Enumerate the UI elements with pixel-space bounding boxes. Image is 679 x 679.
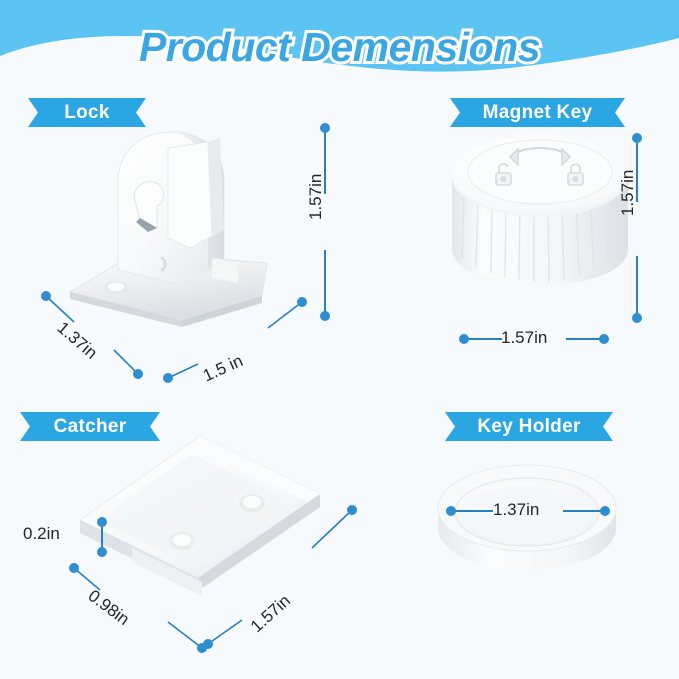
- page-title: Product Demensions: [0, 24, 679, 71]
- dimension-label-catcher-thickness: 0.2in: [23, 524, 60, 544]
- dimension-line-lock-depth: [38, 288, 148, 384]
- section-key-holder: Key Holder: [360, 400, 679, 679]
- header-banner: Product Demensions: [0, 0, 679, 96]
- dimension-line-catcher-width: [66, 560, 212, 656]
- key-holder-dish-icon: [432, 462, 622, 582]
- ribbon-key-holder: Key Holder: [445, 412, 613, 441]
- magnet-key-icon: [440, 127, 640, 312]
- dimension-line-catcher-thickness: [95, 517, 109, 557]
- dimension-label-holder-diameter: 1.37in: [493, 500, 539, 520]
- dimension-label-key-diameter: 1.57in: [501, 328, 547, 348]
- dimension-label-key-height: 1.57in: [618, 170, 638, 216]
- dimension-line-lock-height: [318, 122, 332, 322]
- dimension-label-lock-height: 1.57in: [306, 174, 326, 220]
- ribbon-key-holder-label: Key Holder: [461, 416, 596, 438]
- dimension-line-catcher-length: [200, 500, 360, 652]
- ribbon-magnet-key-label: Magnet Key: [467, 102, 609, 124]
- product-dimensions-infographic: Product Demensions Lock: [0, 0, 679, 679]
- section-lock: Lock: [0, 92, 340, 392]
- ribbon-magnet-key: Magnet Key: [450, 98, 625, 127]
- section-catcher: Catcher: [0, 400, 360, 679]
- section-magnet-key: Magnet Key: [340, 92, 679, 392]
- dimension-line-key-height: [630, 132, 644, 324]
